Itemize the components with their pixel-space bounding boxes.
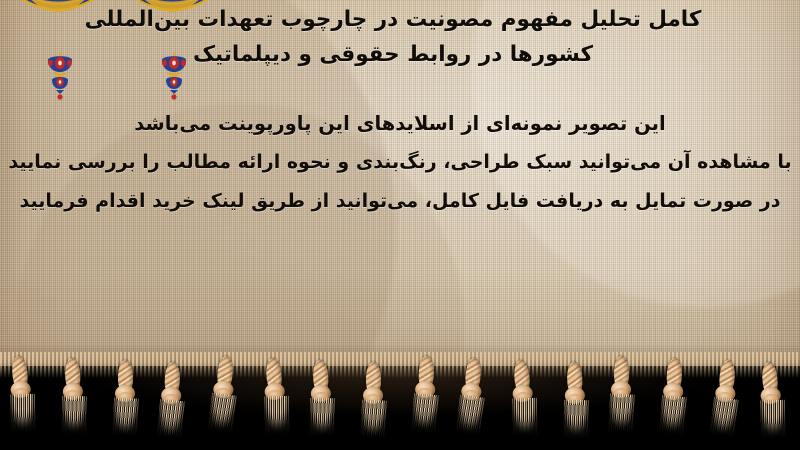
tassel-brush bbox=[563, 400, 589, 438]
tassel-brush bbox=[608, 393, 635, 432]
fringe-tassel bbox=[203, 355, 243, 433]
fringe-tassel bbox=[751, 361, 791, 439]
tassel-brush bbox=[207, 393, 237, 434]
title-line-1: کامل تحلیل مفهوم مصونیت در چارچوب تعهدات… bbox=[0, 2, 786, 37]
fringe-tassel bbox=[407, 355, 444, 432]
tassel-brush bbox=[709, 397, 739, 438]
fringe-tassel bbox=[503, 359, 543, 437]
powerpoint-slide: کامل تحلیل مفهوم مصونیت در چارچوب تعهدات… bbox=[0, 0, 800, 450]
fringe-tassel bbox=[153, 361, 190, 438]
fringe-tassel bbox=[604, 356, 638, 432]
tassel-brush bbox=[264, 396, 290, 435]
tassel-brush bbox=[309, 398, 335, 436]
fringe-tassel bbox=[1, 355, 41, 433]
fringe-tassel bbox=[557, 361, 594, 438]
tassel-brush bbox=[360, 399, 387, 438]
body-line-1: این تصویر نمونه‌ای از اسلایدهای این پاور… bbox=[0, 104, 800, 143]
tassel-brush bbox=[61, 396, 87, 434]
body-line-2: با مشاهده آن می‌توانید سبک طراحی، رنگ‌بن… bbox=[0, 143, 800, 182]
title-line-2: کشورها در روابط حقوقی و دیپلماتیک bbox=[0, 37, 786, 72]
tassel-brush bbox=[157, 399, 185, 439]
fringe-tassel bbox=[356, 362, 390, 438]
tassel-brush bbox=[455, 395, 485, 436]
tassel-brush bbox=[411, 393, 439, 433]
fringe-tassel bbox=[255, 357, 295, 435]
slide-title: کامل تحلیل مفهوم مصونیت در چارچوب تعهدات… bbox=[0, 2, 786, 72]
tassel-brush bbox=[10, 394, 36, 433]
slide-body: این تصویر نمونه‌ای از اسلایدهای این پاور… bbox=[0, 104, 800, 221]
fringe-tassel bbox=[451, 357, 491, 435]
fringe-tassel bbox=[705, 359, 745, 437]
body-line-3: در صورت تمایل به دریافت فایل کامل، می‌تو… bbox=[0, 182, 800, 221]
fringe-tassel bbox=[108, 360, 142, 436]
fringe-tassel bbox=[655, 357, 692, 434]
slide-text-layer: کامل تحلیل مفهوم مصونیت در چارچوب تعهدات… bbox=[0, 0, 800, 372]
fringe-tassel bbox=[303, 359, 340, 436]
tassel-brush bbox=[659, 395, 687, 435]
tassel-brush bbox=[512, 398, 538, 437]
tassel-brush bbox=[760, 400, 786, 439]
fringe-tassel bbox=[55, 357, 92, 434]
tassel-brush bbox=[112, 397, 139, 436]
